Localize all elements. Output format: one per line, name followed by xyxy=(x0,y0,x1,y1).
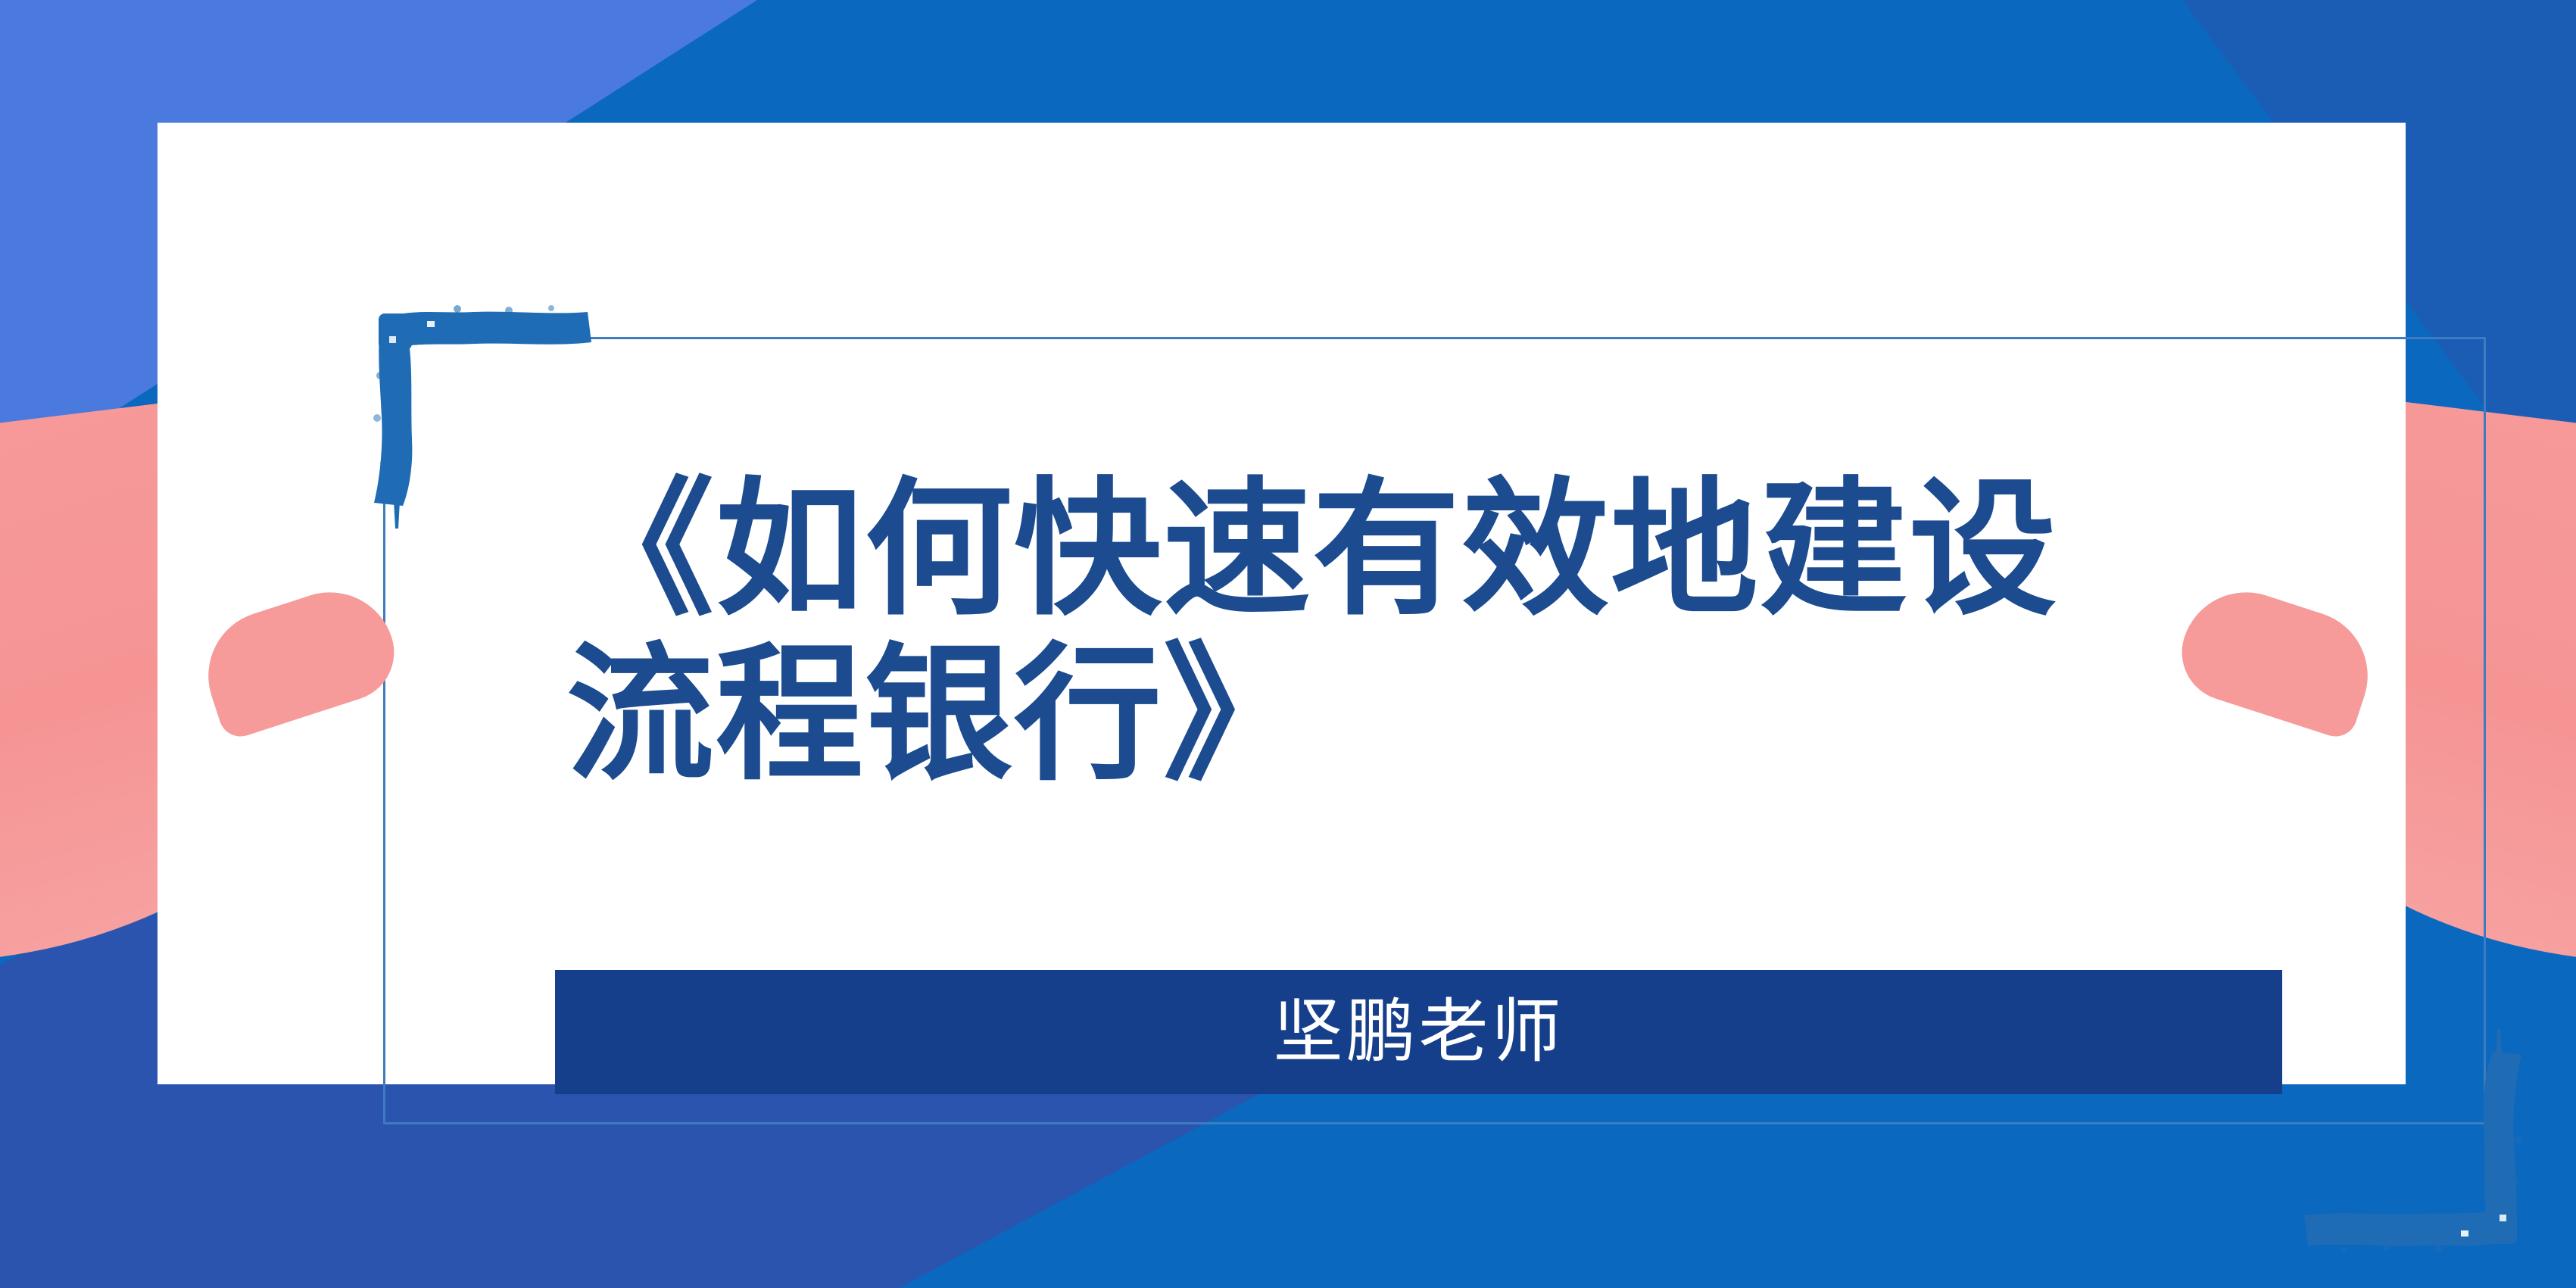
brush-corner-top-left-icon xyxy=(360,303,603,530)
poster-canvas: 《如何快速有效地建设 流程银行》 坚鹏老师 xyxy=(0,0,2576,1288)
page-title: 《如何快速有效地建设 流程银行》 xyxy=(566,467,2270,798)
brush-corner-bottom-right-icon xyxy=(2293,1028,2535,1255)
presenter-bar: 坚鹏老师 xyxy=(555,970,2282,1094)
presenter-name: 坚鹏老师 xyxy=(1273,997,1564,1067)
title-line-1: 《如何快速有效地建设 xyxy=(566,467,2270,632)
white-card: 《如何快速有效地建设 流程银行》 坚鹏老师 xyxy=(157,123,2406,1084)
title-line-2: 流程银行》 xyxy=(566,632,2270,797)
